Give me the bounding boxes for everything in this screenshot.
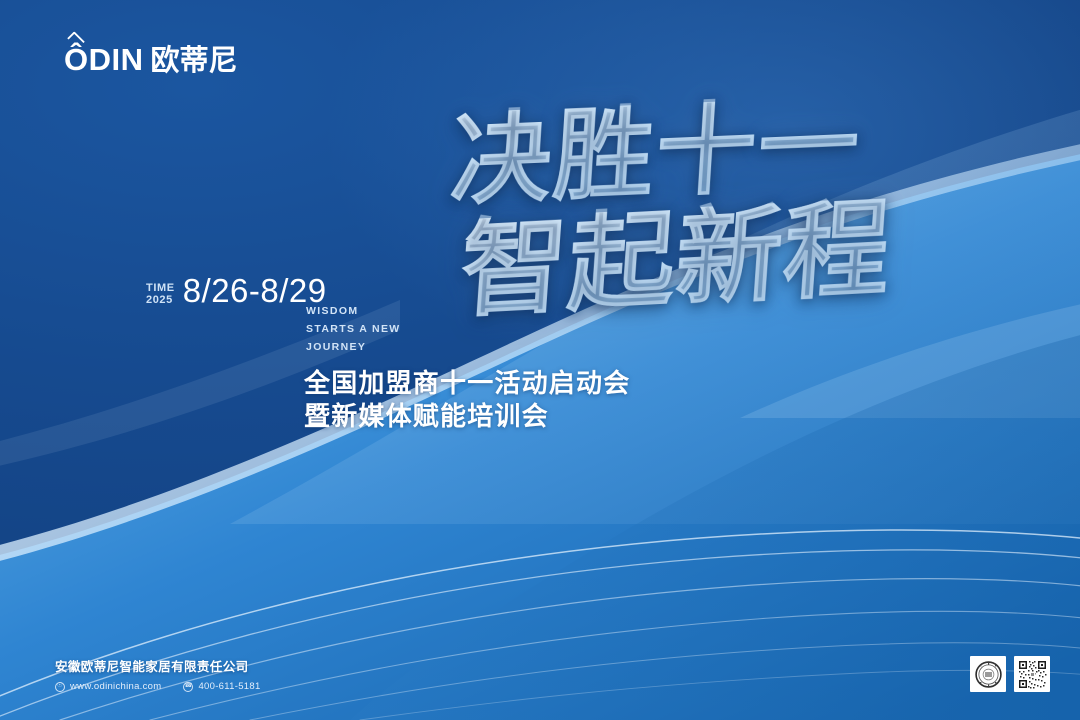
contact-row: ☉ www.odinichina.com ☎ 400-611-5181	[55, 681, 261, 692]
logo-latin: ÔDIN	[64, 44, 144, 75]
phone-item[interactable]: ☎ 400-611-5181	[183, 681, 260, 692]
footer: 安徽欧蒂尼智能家居有限责任公司 ☉ www.odinichina.com ☎ 4…	[55, 659, 261, 692]
main-title: 决胜十一 智起新程	[438, 104, 908, 344]
company-name: 安徽欧蒂尼智能家居有限责任公司	[55, 659, 261, 675]
seal-code-graphic	[973, 659, 1004, 690]
phone-text: 400-611-5181	[198, 681, 260, 692]
event-poster: ÔDIN 欧蒂尼 决胜十一 智起新程 TIME 2025 8/26-8/29 W…	[0, 0, 1080, 720]
qr-code[interactable]	[1014, 656, 1050, 692]
tagline-line-3: JOURNEY	[306, 338, 401, 356]
logo-latin-rest: DIN	[89, 42, 144, 77]
event-date: TIME 2025 8/26-8/29	[146, 274, 327, 307]
code-group	[970, 656, 1050, 692]
website-text: www.odinichina.com	[70, 681, 161, 692]
subtitle-line-1: 全国加盟商十一活动启动会	[304, 368, 630, 401]
logo-chinese: 欧蒂尼	[151, 46, 238, 75]
english-tagline: WISDOM STARTS A NEW JOURNEY	[306, 302, 401, 356]
brand-logo: ÔDIN 欧蒂尼	[64, 44, 238, 75]
phone-icon: ☎	[183, 682, 193, 692]
qr-code-graphic	[1017, 659, 1048, 690]
event-subtitle: 全国加盟商十一活动启动会 暨新媒体赋能培训会	[304, 368, 630, 434]
seal-code[interactable]	[970, 656, 1006, 692]
subtitle-line-2: 暨新媒体赋能培训会	[304, 401, 630, 434]
tagline-line-1: WISDOM	[306, 302, 401, 320]
logo-o-circumflex: Ô	[64, 44, 89, 75]
logo-mark: ÔDIN	[64, 44, 144, 75]
website-item[interactable]: ☉ www.odinichina.com	[55, 681, 161, 692]
time-label: TIME 2025	[146, 283, 175, 306]
time-label-word: TIME	[146, 283, 175, 295]
title-line-2: 智起新程	[457, 197, 894, 321]
time-label-year: 2025	[146, 295, 175, 307]
globe-icon: ☉	[55, 682, 65, 692]
tagline-line-2: STARTS A NEW	[306, 320, 401, 338]
